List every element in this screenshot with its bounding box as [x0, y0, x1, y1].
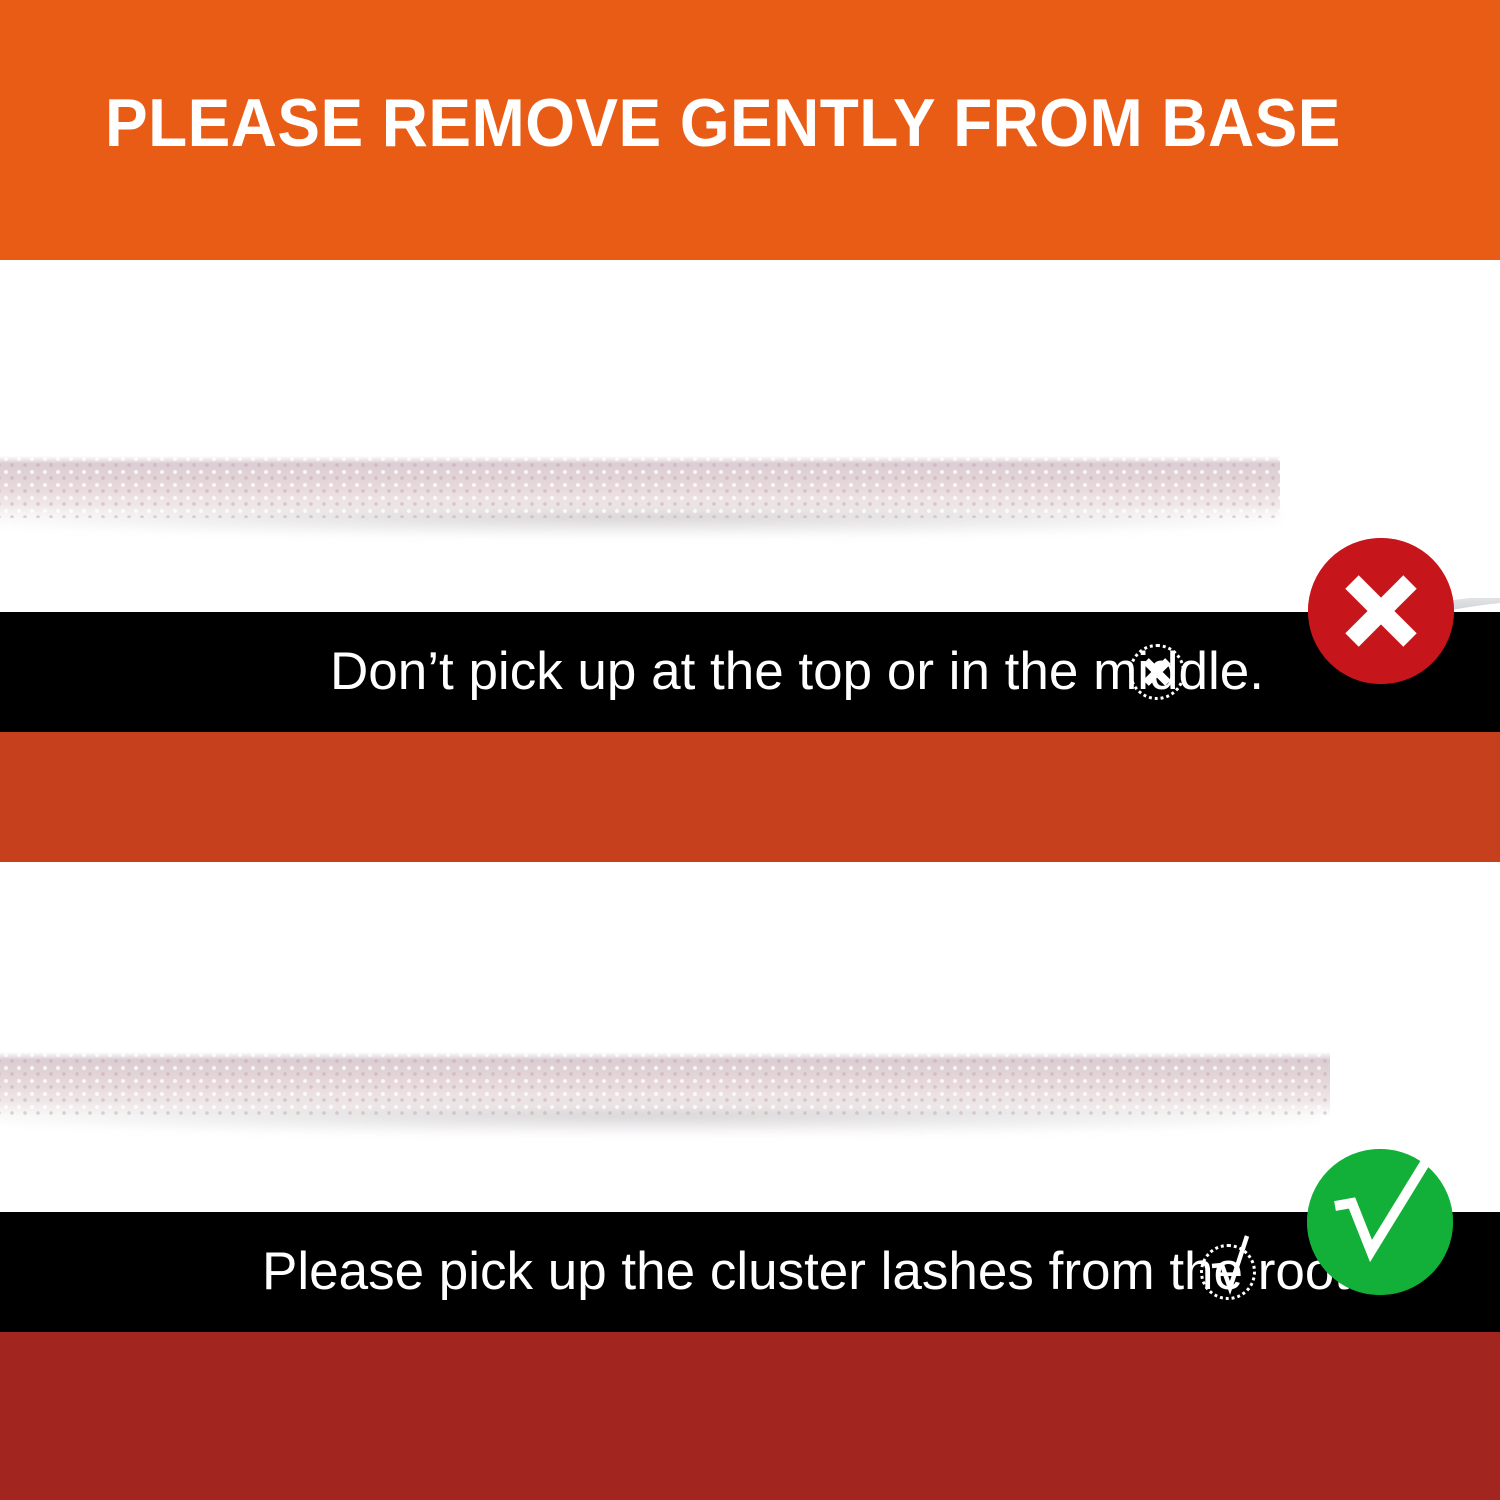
divider-band-dark-red — [0, 1332, 1500, 1500]
status-badge-correct — [1307, 1149, 1453, 1295]
check-badge-glyph — [1307, 1149, 1453, 1295]
header-banner: PLEASE REMOVE GENTLY FROM BASE — [0, 0, 1500, 260]
photo-correct — [0, 862, 1500, 1212]
check-glyph — [1200, 1244, 1256, 1300]
x-badge-glyph — [1308, 538, 1454, 684]
x-glyph — [1129, 644, 1185, 700]
lash-tray-strip — [0, 456, 1280, 518]
caption-correct: Please pick up the cluster lashes from t… — [262, 1242, 1364, 1302]
check-mark-icon — [1200, 1244, 1256, 1300]
caption-bar-correct: Please pick up the cluster lashes from t… — [0, 1212, 1500, 1332]
status-badge-incorrect — [1308, 538, 1454, 684]
instruction-card: PLEASE REMOVE GENTLY FROM BASE — [0, 0, 1500, 1500]
photo-incorrect — [0, 260, 1500, 612]
lash-tray-strip — [0, 1052, 1330, 1116]
tray-texture — [0, 1052, 1330, 1116]
caption-incorrect: Don’t pick up at the top or in the middl… — [330, 642, 1264, 702]
tray-texture — [0, 456, 1280, 518]
x-mark-icon — [1129, 644, 1185, 700]
page-title: PLEASE REMOVE GENTLY FROM BASE — [105, 86, 1327, 160]
caption-bar-incorrect: Don’t pick up at the top or in the middl… — [0, 612, 1500, 732]
divider-band-orange-red — [0, 732, 1500, 862]
